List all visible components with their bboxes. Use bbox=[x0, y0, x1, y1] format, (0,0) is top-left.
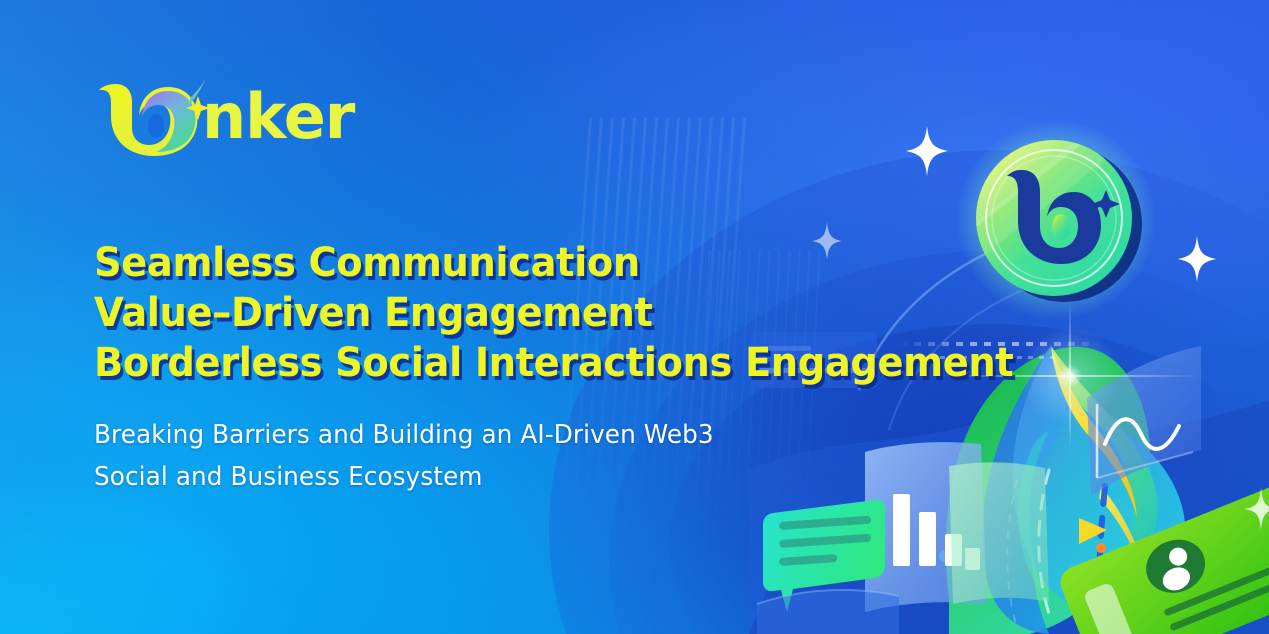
blue-panel-lower-edge bbox=[757, 590, 899, 604]
green-blob bbox=[946, 347, 1151, 634]
logo-o-counter bbox=[148, 114, 164, 138]
ribbon-blue-main bbox=[1013, 346, 1186, 615]
ribbon-teal-lower bbox=[1018, 430, 1055, 610]
headline-line-3: Borderless Social Interactions Engagemen… bbox=[94, 338, 958, 388]
dashed-path-white bbox=[1039, 470, 1051, 620]
dot-blue bbox=[1116, 557, 1126, 567]
dot-orange bbox=[1096, 543, 1106, 553]
dot-cyan bbox=[939, 550, 951, 562]
ribbon-green-main bbox=[1051, 346, 1158, 580]
hero-banner: nker Seamless Communication Value–Driven… bbox=[0, 0, 1269, 634]
dashed-path-faint bbox=[1007, 480, 1017, 628]
subtitle-line-2: Social and Business Ecosystem bbox=[94, 456, 778, 498]
lonker-logo[interactable]: nker bbox=[92, 78, 354, 156]
logo-wordmark: nker bbox=[202, 86, 354, 148]
green-glass-panel bbox=[949, 462, 1049, 604]
subtitle-line-1: Breaking Barriers and Building an AI-Dri… bbox=[94, 414, 778, 456]
hero-headline: Seamless Communication Value–Driven Enga… bbox=[94, 238, 994, 388]
sparkle-star-icon bbox=[1178, 236, 1216, 282]
ribbon-yellow-streak bbox=[1051, 348, 1137, 518]
headline-line-2: Value–Driven Engagement bbox=[94, 288, 958, 338]
lens-flare bbox=[1010, 316, 1130, 436]
chat-bubble-card bbox=[763, 500, 885, 612]
background-arc-large bbox=[549, 150, 1269, 634]
lonker-lo-monogram-icon bbox=[92, 78, 210, 156]
profile-card bbox=[1056, 480, 1269, 634]
ribbon-blue-outer bbox=[982, 348, 1079, 634]
bar-chart-panel bbox=[865, 442, 987, 612]
dot-green bbox=[1132, 573, 1142, 583]
blue-panel-lower bbox=[757, 590, 899, 634]
ribbon-yellow-streak-2 bbox=[1099, 486, 1145, 582]
dashed-path-blue bbox=[1099, 486, 1105, 618]
hero-subtitle: Breaking Barriers and Building an AI-Dri… bbox=[94, 414, 814, 498]
wave-chart-panel bbox=[1087, 346, 1201, 496]
headline-line-1: Seamless Communication bbox=[94, 238, 958, 288]
deep-blue-mass bbox=[749, 400, 1269, 634]
play-triangle-icon bbox=[1079, 518, 1107, 544]
sparkle-star-icon bbox=[906, 126, 948, 176]
sparkle-star-icon bbox=[1244, 488, 1269, 530]
